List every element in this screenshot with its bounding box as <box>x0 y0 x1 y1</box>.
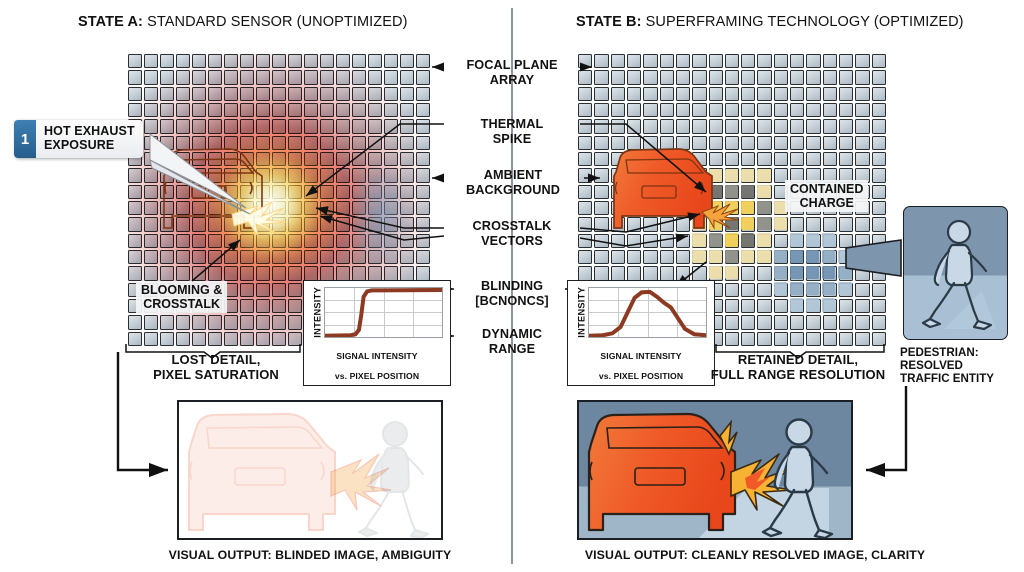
brace-caption-a: LOST DETAIL, PIXEL SATURATION <box>118 352 314 382</box>
label-ambient-background: AMBIENT BACKGROUND <box>440 168 586 197</box>
label-crosstalk-vectors: CROSSTALK VECTORS <box>446 219 578 248</box>
graph-a-ylabel: INTENSITY <box>311 287 324 338</box>
diagram-canvas: STATE A: STANDARD SENSOR (UNOPTIMIZED) S… <box>0 0 1024 572</box>
graph-panel-a: INTENSITY SIGNAL INTENSITY vs. PIXEL POS… <box>303 280 451 386</box>
graph-b-plot <box>588 287 707 338</box>
graph-b-caption-line2: vs. PIXEL POSITION <box>575 371 707 381</box>
graph-a-curve <box>325 288 442 337</box>
label-dynamic-range: DYNAMIC RANGE <box>446 327 578 356</box>
output-caption-a: VISUAL OUTPUT: BLINDED IMAGE, AMBIGUITY <box>120 548 500 562</box>
graph-panel-b: INTENSITY SIGNAL INTENSITY vs. PIXEL POS… <box>567 280 715 386</box>
graph-a-plot <box>324 287 443 338</box>
graph-a-caption-line2: vs. PIXEL POSITION <box>311 371 443 381</box>
graph-b-ylabel: INTENSITY <box>575 287 588 338</box>
callout-number: 1 <box>14 120 36 158</box>
resolved-scene <box>579 402 853 540</box>
label-focal-plane-array: FOCAL PLANE ARRAY <box>446 58 578 87</box>
graph-a-caption: SIGNAL INTENSITY vs. PIXEL POSITION <box>311 338 443 391</box>
graph-b-caption-line1: SIGNAL INTENSITY <box>575 351 707 361</box>
label-blinding: BLINDING [BCNONCS] <box>446 279 578 308</box>
output-caption-b: VISUAL OUTPUT: CLEANLY RESOLVED IMAGE, C… <box>540 548 970 562</box>
callout-label: HOT EXHAUST EXPOSURE <box>36 120 143 158</box>
label-thermal-spike: THERMAL SPIKE <box>446 117 578 146</box>
pedestrian-icon <box>904 207 1008 340</box>
callout-hot-exhaust[interactable]: 1 HOT EXHAUST EXPOSURE <box>14 120 143 158</box>
graph-a-caption-line1: SIGNAL INTENSITY <box>311 351 443 361</box>
pedestrian-caption: PEDESTRIAN: RESOLVED TRAFFIC ENTITY <box>900 346 1022 385</box>
brace-caption-b: RETAINED DETAIL, FULL RANGE RESOLUTION <box>700 352 896 382</box>
graph-b-curve <box>589 288 706 337</box>
output-panel-b <box>577 400 853 540</box>
blinded-scene <box>179 402 443 540</box>
graph-b-caption: SIGNAL INTENSITY vs. PIXEL POSITION <box>575 338 707 391</box>
pedestrian-callout-panel <box>903 206 1008 340</box>
output-panel-a <box>177 400 443 540</box>
